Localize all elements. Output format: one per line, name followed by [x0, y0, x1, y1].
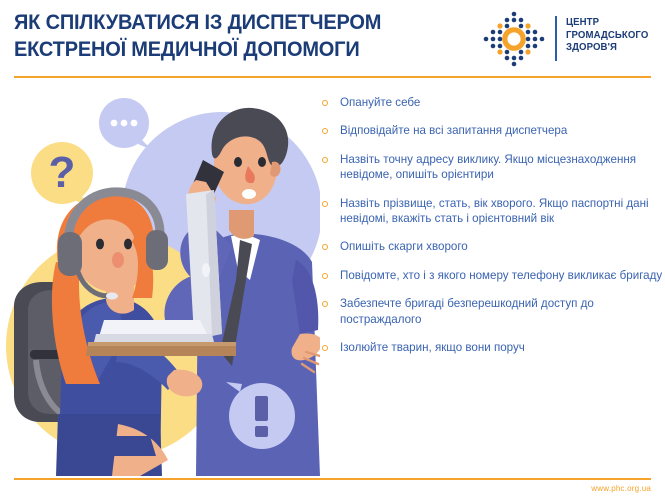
- speech-bubble-dots: [99, 98, 152, 150]
- list-item: Назвіть прізвище, стать, вік хворого. Як…: [320, 196, 665, 227]
- header-divider-rule: [14, 76, 651, 78]
- list-item-text: Повідомте, хто і з якого номеру телефону…: [340, 268, 665, 283]
- logo-text: ЦЕНТР ГРОМАДСЬКОГО ЗДОРОВ'Я: [566, 17, 652, 55]
- page-title: ЯК СПІЛКУВАТИСЯ ІЗ ДИСПЕТЧЕРОМ ЕКСТРЕНОЇ…: [14, 9, 474, 63]
- list-item: Опишіть скарги хворого: [320, 239, 665, 254]
- footer-website-url[interactable]: www.phc.org.ua: [591, 484, 651, 493]
- list-item-text: Забезпечте бригаді безперешкодний доступ…: [340, 296, 665, 327]
- list-item: Забезпечте бригаді безперешкодний доступ…: [320, 296, 665, 327]
- logo-text-line-3: ЗДОРОВ'Я: [566, 42, 648, 55]
- list-item: Відповідайте на всі запитання диспетчера: [320, 123, 665, 138]
- header: ЯК СПІЛКУВАТИСЯ ІЗ ДИСПЕТЧЕРОМ ЕКСТРЕНОЇ…: [0, 0, 665, 80]
- list-item-text: Опануйте себе: [340, 95, 665, 110]
- bullet-marker-icon: [322, 201, 328, 207]
- title-line-2: ЕКСТРЕНОЇ МЕДИЧНОЇ ДОПОМОГИ: [14, 36, 442, 63]
- list-item-text: Ізолюйте тварин, якщо вони поруч: [340, 340, 665, 355]
- infographic-page: ЯК СПІЛКУВАТИСЯ ІЗ ДИСПЕТЧЕРОМ ЕКСТРЕНОЇ…: [0, 0, 665, 499]
- phc-logo: ЦЕНТР ГРОМАДСЬКОГО ЗДОРОВ'Я: [481, 10, 661, 68]
- speech-bubble-question: ?: [31, 142, 93, 208]
- bullet-marker-icon: [322, 273, 328, 279]
- list-item-text: Опишіть скарги хворого: [340, 239, 665, 254]
- list-item-text: Назвіть точну адресу виклику. Якщо місце…: [340, 152, 665, 183]
- logo-divider: [555, 16, 557, 61]
- list-item-text: Відповідайте на всі запитання диспетчера: [340, 123, 665, 138]
- phc-diamond-dots-logo-icon: [481, 10, 547, 68]
- svg-text:?: ?: [49, 148, 76, 197]
- list-item: Ізолюйте тварин, якщо вони поруч: [320, 340, 665, 355]
- bullet-marker-icon: [322, 345, 328, 351]
- instruction-list: Опануйте себе Відповідайте на всі запита…: [320, 95, 665, 368]
- title-line-1: ЯК СПІЛКУВАТИСЯ ІЗ ДИСПЕТЧЕРОМ: [14, 9, 442, 36]
- footer-divider-rule: [14, 478, 651, 480]
- logo-text-line-2: ГРОМАДСЬКОГО: [566, 30, 648, 43]
- logo-text-line-1: ЦЕНТР: [566, 17, 648, 30]
- list-item: Повідомте, хто і з якого номеру телефону…: [320, 268, 665, 283]
- bullet-marker-icon: [322, 157, 328, 163]
- bullet-marker-icon: [322, 301, 328, 307]
- list-item-text: Назвіть прізвище, стать, вік хворого. Як…: [340, 196, 665, 227]
- bullet-marker-icon: [322, 244, 328, 250]
- bullet-marker-icon: [322, 128, 328, 134]
- bullet-marker-icon: [322, 100, 328, 106]
- illustration: ?: [0, 84, 320, 476]
- list-item: Опануйте себе: [320, 95, 665, 110]
- list-item: Назвіть точну адресу виклику. Якщо місце…: [320, 152, 665, 183]
